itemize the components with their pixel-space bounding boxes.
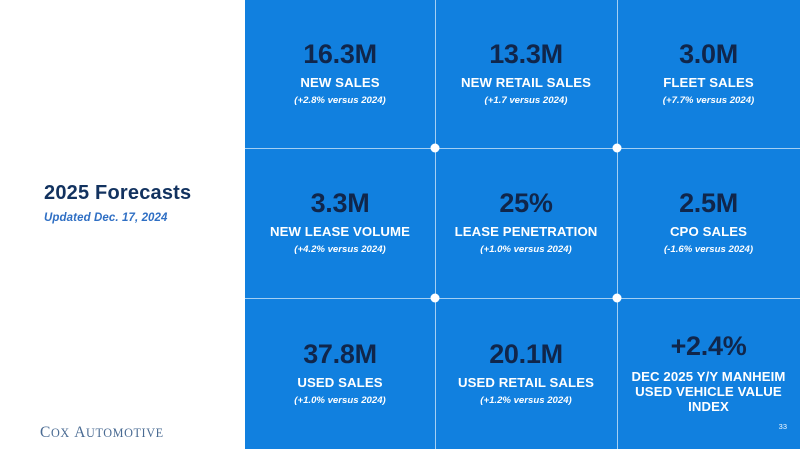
metric-note: (+1.0% versus 2024) (294, 396, 385, 407)
grid-intersection-dot (613, 144, 622, 153)
grid-divider-vertical-1 (435, 0, 436, 449)
metric-label: USED SALES (297, 375, 382, 390)
grid-divider-horizontal-1 (245, 148, 800, 149)
metric-label: LEASE PENETRATION (455, 224, 598, 239)
logo-cox-rest: OX (51, 426, 70, 440)
updated-date-subtitle: Updated Dec. 17, 2024 (44, 212, 244, 224)
metric-value: 3.3M (311, 190, 370, 217)
metric-cell-new-lease-volume: 3.3M NEW LEASE VOLUME (+4.2% versus 2024… (245, 148, 435, 298)
page-number: 33 (779, 422, 787, 431)
grid-divider-horizontal-2 (245, 298, 800, 299)
metric-label: NEW LEASE VOLUME (270, 224, 410, 239)
metric-note: (+1.0% versus 2024) (480, 245, 571, 256)
cox-automotive-logo: COX AUTOMOTIVE (40, 424, 164, 442)
forecast-slide: 2025 Forecasts Updated Dec. 17, 2024 COX… (0, 0, 800, 449)
metric-cell-new-retail-sales: 13.3M NEW RETAIL SALES (+1.7 versus 2024… (435, 0, 617, 148)
metrics-panel: 16.3M NEW SALES (+2.8% versus 2024) 13.3… (245, 0, 800, 449)
metrics-grid: 16.3M NEW SALES (+2.8% versus 2024) 13.3… (245, 0, 800, 449)
metric-label: FLEET SALES (663, 75, 754, 90)
left-panel: 2025 Forecasts Updated Dec. 17, 2024 COX… (0, 0, 245, 449)
metric-value: 37.8M (303, 341, 377, 368)
metric-value: +2.4% (671, 333, 747, 360)
metric-cell-fleet-sales: 3.0M FLEET SALES (+7.7% versus 2024) (617, 0, 800, 148)
logo-cox-initial: C (40, 424, 51, 441)
metric-value: 2.5M (679, 190, 738, 217)
logo-automotive-rest: UTOMOTIVE (86, 426, 164, 440)
metric-note: (+2.8% versus 2024) (294, 96, 385, 107)
metric-note: (+4.2% versus 2024) (294, 245, 385, 256)
metric-label: USED RETAIL SALES (458, 375, 594, 390)
metric-value: 13.3M (489, 41, 563, 68)
metric-label: NEW SALES (300, 75, 379, 90)
metric-note: (+1.7 versus 2024) (485, 96, 568, 107)
grid-divider-vertical-2 (617, 0, 618, 449)
page-title: 2025 Forecasts (44, 182, 244, 205)
metric-note: (-1.6% versus 2024) (664, 245, 753, 256)
metric-note: (+7.7% versus 2024) (663, 96, 754, 107)
metric-value: 20.1M (489, 341, 563, 368)
metric-value: 3.0M (679, 41, 738, 68)
grid-intersection-dot (613, 294, 622, 303)
metric-value: 25% (499, 190, 552, 217)
metric-label: DEC 2025 Y/Y MANHEIM USED VEHICLE VALUE … (623, 369, 794, 414)
title-block: 2025 Forecasts Updated Dec. 17, 2024 (44, 182, 244, 224)
logo-automotive-initial: A (74, 424, 86, 441)
metric-cell-manheim-index: +2.4% DEC 2025 Y/Y MANHEIM USED VEHICLE … (617, 298, 800, 449)
metric-cell-used-retail-sales: 20.1M USED RETAIL SALES (+1.2% versus 20… (435, 298, 617, 449)
metric-cell-lease-penetration: 25% LEASE PENETRATION (+1.0% versus 2024… (435, 148, 617, 298)
metric-label: NEW RETAIL SALES (461, 75, 591, 90)
metric-label: CPO SALES (670, 224, 747, 239)
grid-intersection-dot (431, 144, 440, 153)
metric-cell-used-sales: 37.8M USED SALES (+1.0% versus 2024) (245, 298, 435, 449)
metric-cell-new-sales: 16.3M NEW SALES (+2.8% versus 2024) (245, 0, 435, 148)
grid-intersection-dot (431, 294, 440, 303)
metric-note: (+1.2% versus 2024) (480, 396, 571, 407)
metric-cell-cpo-sales: 2.5M CPO SALES (-1.6% versus 2024) (617, 148, 800, 298)
metric-value: 16.3M (303, 41, 377, 68)
